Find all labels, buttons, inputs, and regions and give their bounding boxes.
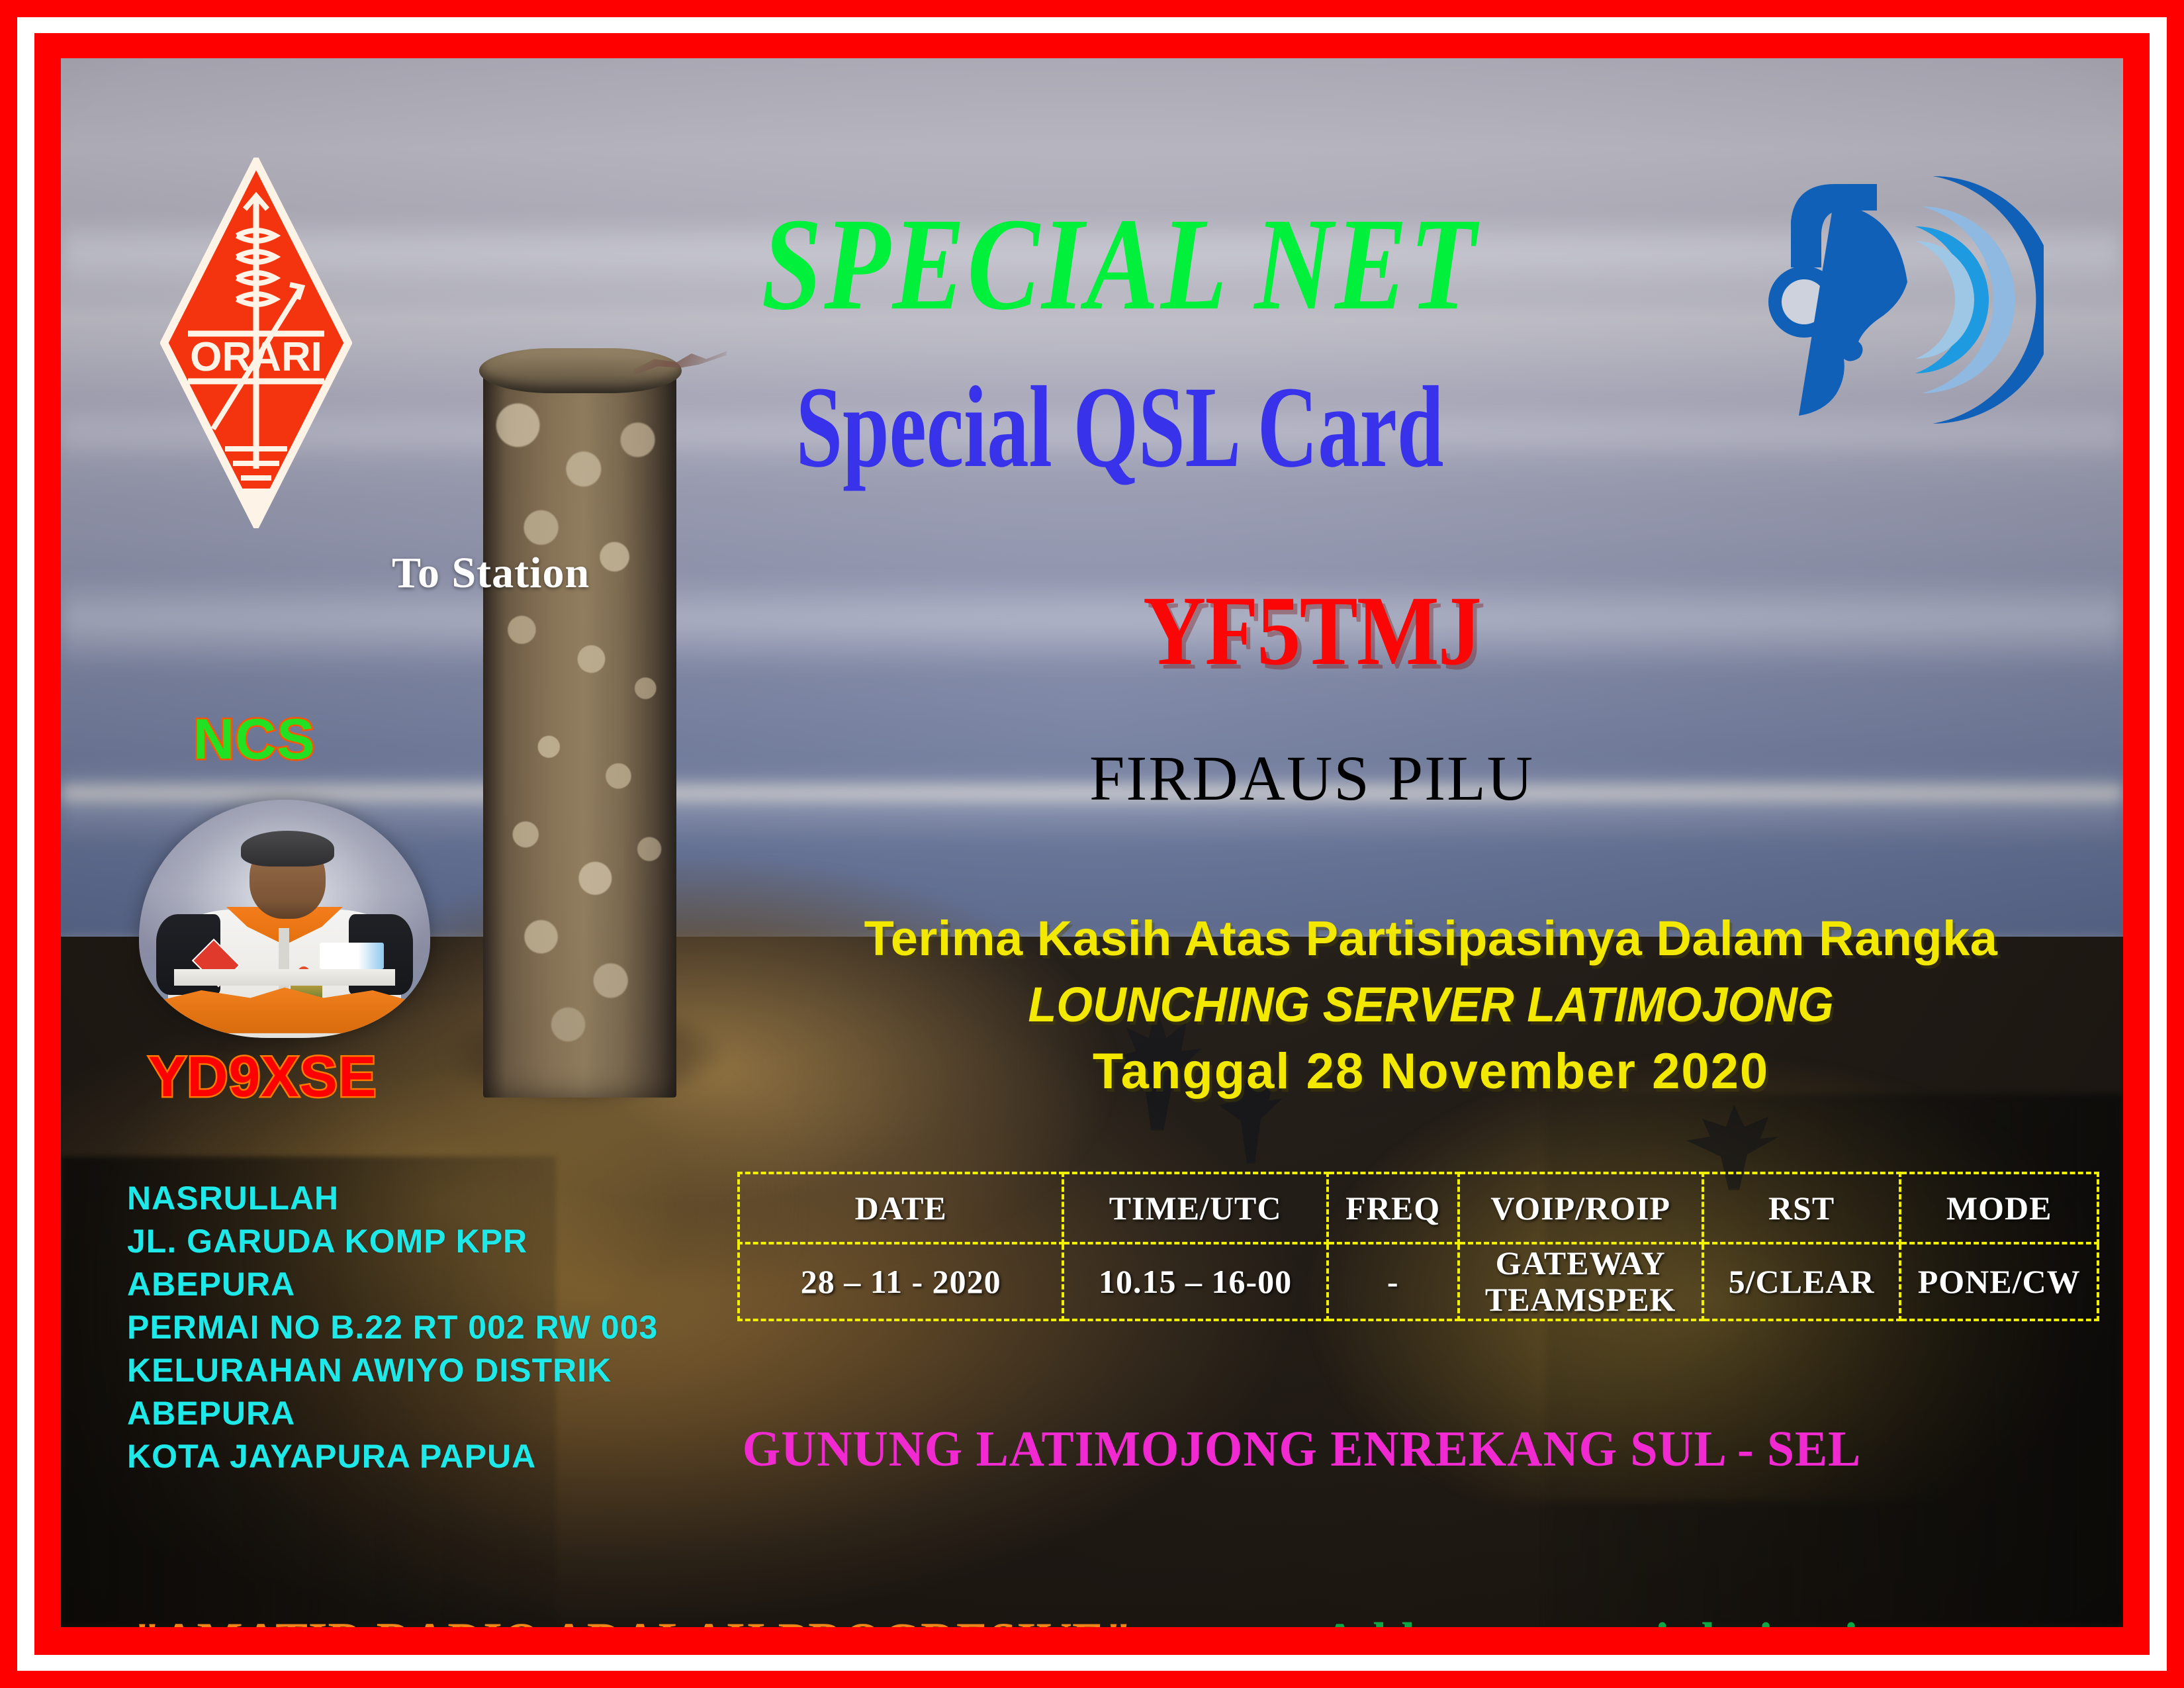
column-header-date: DATE bbox=[739, 1173, 1063, 1243]
address-line: PERMAI NO B.22 RT 002 RW 003 bbox=[127, 1306, 658, 1349]
motto-text: "AMATIR RADIO ADALAH PROGRESIVE" bbox=[134, 1611, 1132, 1627]
page-subtitle: Special QSL Card bbox=[691, 369, 1549, 486]
cell-voip-line1: GATEWAY bbox=[1461, 1245, 1701, 1282]
to-station-label: To Station bbox=[392, 548, 590, 598]
location-line: GUNUNG LATIMOJONG ENREKANG SUL - SEL bbox=[676, 1421, 1928, 1478]
orari-logo-text: ORARI bbox=[190, 334, 322, 380]
address-line: JL. GARUDA KOMP KPR bbox=[127, 1220, 658, 1263]
ncs-label: NCS bbox=[193, 707, 316, 773]
photo-orange-sash bbox=[162, 986, 407, 1033]
cell-freq: - bbox=[1328, 1243, 1459, 1320]
cell-mode: PONE/CW bbox=[1900, 1243, 2098, 1320]
web-address-text: Address : amatir.latimojong.com bbox=[1322, 1611, 2042, 1627]
photo-hair bbox=[241, 831, 334, 867]
address-line: ABEPURA bbox=[127, 1392, 658, 1435]
mailing-address-block: NASRULLAH JL. GARUDA KOMP KPR ABEPURA PE… bbox=[127, 1177, 658, 1478]
cell-time: 10.15 – 16-00 bbox=[1063, 1243, 1328, 1320]
ncs-callsign: YD9XSE bbox=[148, 1045, 377, 1110]
column-header-rst: RST bbox=[1703, 1173, 1901, 1243]
thanks-line: Terima Kasih Atas Partisipasinya Dalam R… bbox=[762, 912, 2099, 965]
cell-voip-line2: TEAMSPEK bbox=[1461, 1282, 1701, 1318]
address-line: KELURAHAN AWIYO DISTRIK bbox=[127, 1349, 658, 1392]
cell-date: 28 – 11 - 2020 bbox=[739, 1243, 1063, 1320]
overlay-content: ORARI SPECIAL NET Special bbox=[61, 58, 2123, 1627]
address-line: KOTA JAYAPURA PAPUA bbox=[127, 1435, 658, 1478]
column-header-mode: MODE bbox=[1900, 1173, 2098, 1243]
address-line: NASRULLAH bbox=[127, 1177, 658, 1220]
qso-log-table: DATE TIME/UTC FREQ VOIP/ROIP RST MODE 28… bbox=[737, 1172, 2099, 1321]
column-header-freq: FREQ bbox=[1328, 1173, 1459, 1243]
address-line: ABEPURA bbox=[127, 1263, 658, 1306]
operator-name: FIRDAUS PILU bbox=[921, 747, 1702, 810]
ncs-operator-photo bbox=[139, 800, 430, 1038]
photo-belt bbox=[174, 969, 395, 986]
table-header-row: DATE TIME/UTC FREQ VOIP/ROIP RST MODE bbox=[739, 1173, 2098, 1243]
event-line: LOUNCHING SERVER LATIMOJONG bbox=[796, 978, 2066, 1031]
voip-headphone-face-logo bbox=[1759, 158, 2044, 442]
photo-logo-patch bbox=[320, 943, 384, 969]
column-header-time: TIME/UTC bbox=[1063, 1173, 1328, 1243]
table-row: 28 – 11 - 2020 10.15 – 16-00 - GATEWAY T… bbox=[739, 1243, 2098, 1320]
qsl-card: ORARI SPECIAL NET Special bbox=[0, 0, 2184, 1688]
cell-voip: GATEWAY TEAMSPEK bbox=[1459, 1243, 1703, 1320]
column-header-voip: VOIP/ROIP bbox=[1459, 1173, 1703, 1243]
station-callsign: YF5TMJ bbox=[968, 581, 1655, 680]
event-date-line: Tanggal 28 November 2020 bbox=[762, 1045, 2099, 1099]
cell-rst: 5/CLEAR bbox=[1703, 1243, 1901, 1320]
page-title: SPECIAL NET bbox=[631, 199, 1608, 331]
orari-diamond-logo: ORARI bbox=[160, 158, 352, 528]
card-background-photo: ORARI SPECIAL NET Special bbox=[61, 58, 2123, 1627]
